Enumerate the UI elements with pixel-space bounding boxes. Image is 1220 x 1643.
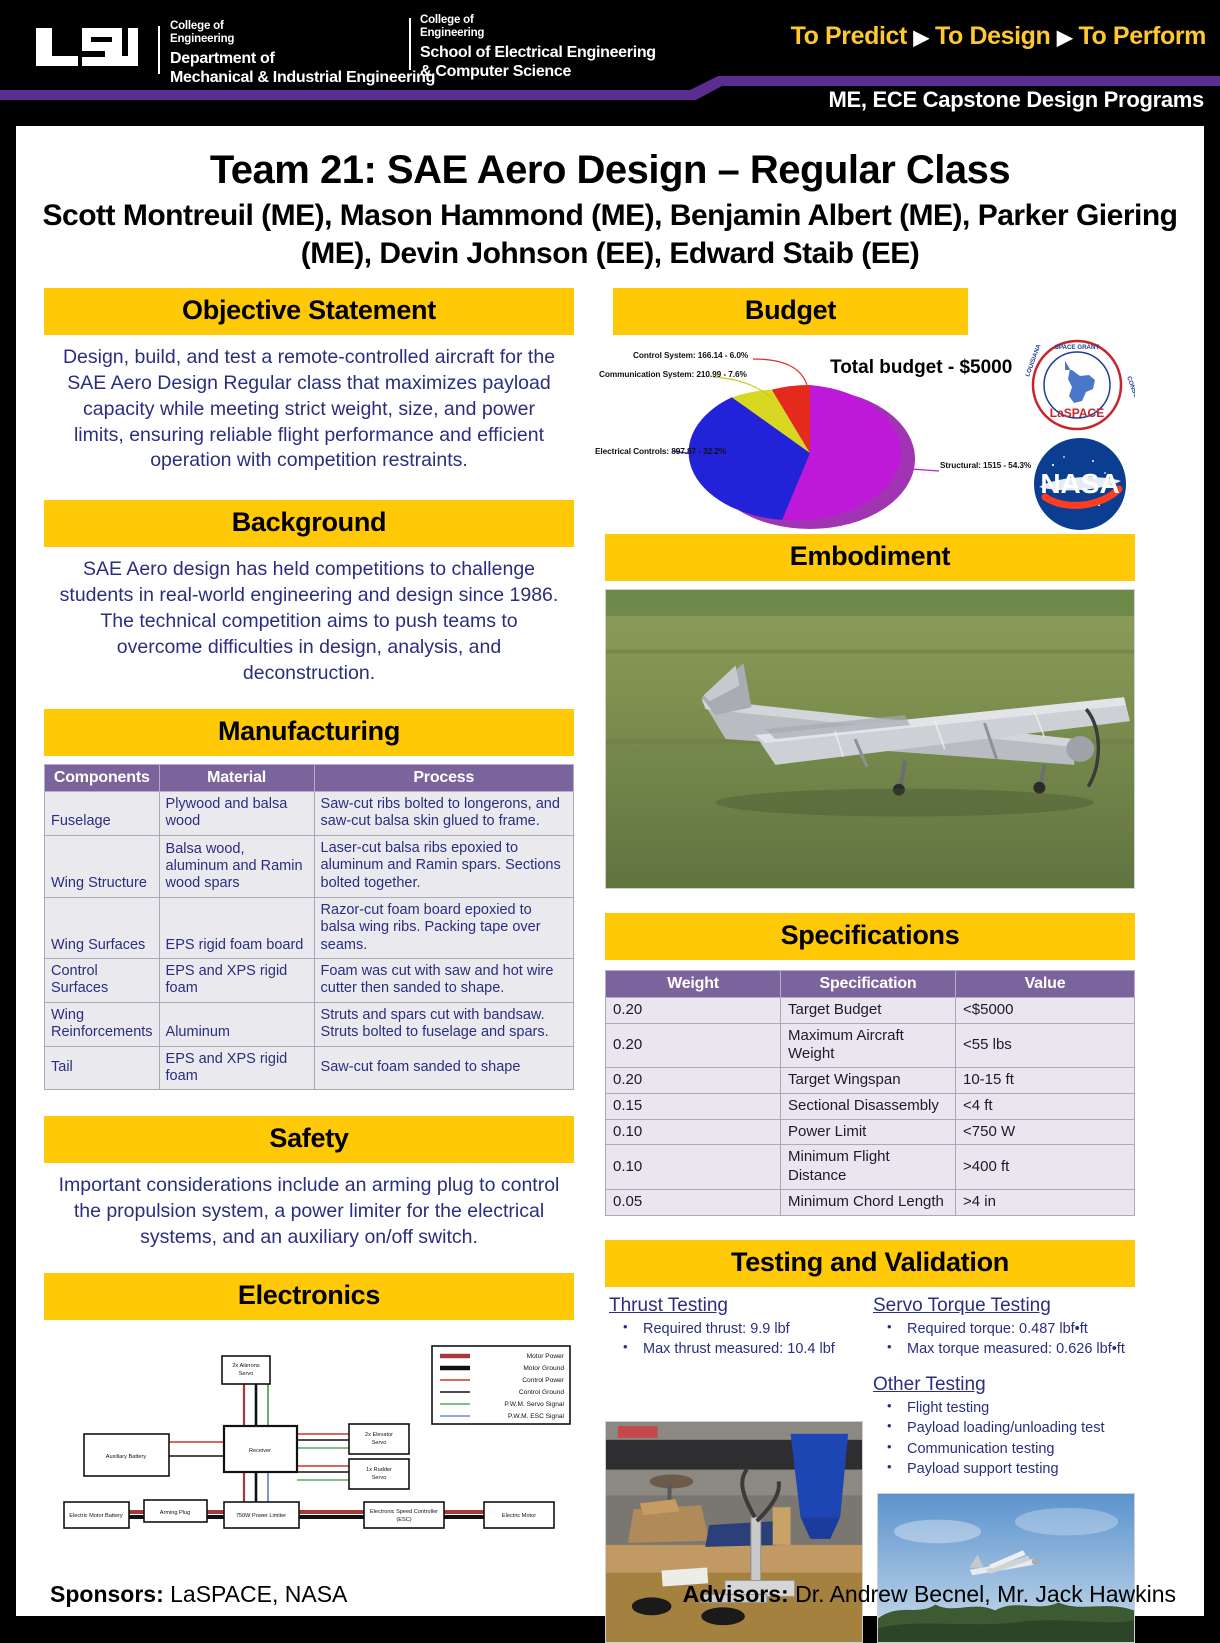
manufacturing-table: Components Material Process Fuselage Ply… xyxy=(44,764,574,1090)
spec-cell: Maximum Aircraft Weight xyxy=(781,1023,956,1068)
mf-cell: Plywood and balsa wood xyxy=(159,792,314,836)
pie-label-structural: Structural: 1515 - 54.3% xyxy=(940,460,1031,470)
tagline-perform: To Perform xyxy=(1079,22,1207,50)
mf-cell: Control Surfaces xyxy=(45,958,160,1002)
spec-cell: 0.15 xyxy=(606,1093,781,1119)
nasa-logo: NASA xyxy=(1031,435,1129,533)
arrow-right-icon: ▶ xyxy=(914,27,929,49)
dept1-line1: Department of xyxy=(170,49,435,68)
sponsors-label: Sponsors: xyxy=(50,1581,164,1607)
testing-heading: Testing and Validation xyxy=(605,1240,1135,1287)
mf-cell: Struts and spars cut with bandsaw. Strut… xyxy=(314,1002,573,1046)
mf-cell: EPS and XPS rigid foam xyxy=(159,1046,314,1090)
lsu-wordmark-logo xyxy=(34,24,144,70)
mf-cell: EPS and XPS rigid foam xyxy=(159,958,314,1002)
spec-cell: >4 in xyxy=(956,1189,1135,1215)
elec-block-label-ailerons-2: Servo xyxy=(239,1371,254,1377)
mf-cell: Saw-cut foam sanded to shape xyxy=(314,1046,573,1090)
advisors-label: Advisors: xyxy=(683,1581,789,1607)
table-row: 0.15 Sectional Disassembly <4 ft xyxy=(606,1093,1135,1119)
budget-heading: Budget xyxy=(613,288,968,335)
spec-cell: <$5000 xyxy=(956,997,1135,1023)
aircraft-in-flight-photo xyxy=(877,1493,1135,1643)
svg-text:NASA: NASA xyxy=(1040,468,1119,499)
legend-label-control-power: Control Power xyxy=(522,1377,565,1384)
elec-block-label-rudder-2: Servo xyxy=(372,1475,387,1481)
table-row: 0.20 Maximum Aircraft Weight <55 lbs xyxy=(606,1023,1135,1068)
specifications-table: Weight Specification Value 0.20 Target B… xyxy=(605,970,1135,1216)
electronics-diagram: 2x Ailerons Servo Auxiliary Battery Rece… xyxy=(44,1324,574,1529)
spec-cell: Power Limit xyxy=(781,1119,956,1145)
arrow-right-icon-2: ▶ xyxy=(1057,27,1072,49)
table-row: Fuselage Plywood and balsa wood Saw-cut … xyxy=(45,792,574,836)
table-row: Wing Reinforcements Aluminum Struts and … xyxy=(45,1002,574,1046)
svg-text:CONSORTIUM: CONSORTIUM xyxy=(1125,375,1135,417)
table-row: Wing Surfaces EPS rigid foam board Razor… xyxy=(45,897,574,958)
mf-cell: Wing Reinforcements xyxy=(45,1002,160,1046)
list-item: Max torque measured: 0.626 lbf•ft xyxy=(887,1339,1135,1360)
spec-cell: 0.10 xyxy=(606,1119,781,1145)
spec-cell: <750 W xyxy=(956,1119,1135,1145)
safety-text: Important considerations include an armi… xyxy=(44,1163,574,1251)
table-header-row: Weight Specification Value xyxy=(606,970,1135,997)
table-row: Tail EPS and XPS rigid foam Saw-cut foam… xyxy=(45,1046,574,1090)
mf-cell: EPS rigid foam board xyxy=(159,897,314,958)
spec-cell: Target Wingspan xyxy=(781,1068,956,1094)
pie-label-control-system: Control System: 166.14 - 6.0% xyxy=(633,350,748,360)
author-list: Scott Montreuil (ME), Mason Hammond (ME)… xyxy=(16,197,1204,274)
dept1-college-label: College of xyxy=(170,20,435,33)
mf-col-components: Components xyxy=(45,765,160,792)
spec-cell: Sectional Disassembly xyxy=(781,1093,956,1119)
mf-cell: Tail xyxy=(45,1046,160,1090)
mf-cell: Razor-cut foam board epoxied to balsa wi… xyxy=(314,897,573,958)
elec-block-label-motor-batt: Electric Motor Battery xyxy=(69,1513,123,1519)
sponsors-value: LaSPACE, NASA xyxy=(170,1581,347,1607)
mf-col-material: Material xyxy=(159,765,314,792)
electronics-legend: Motor Power Motor Ground Control Power C… xyxy=(432,1346,570,1424)
spec-cell: >400 ft xyxy=(956,1145,1135,1190)
poster-body: Team 21: SAE Aero Design – Regular Class… xyxy=(16,126,1204,1616)
testing-text-columns: Thrust Testing Required thrust: 9.9 lbf … xyxy=(605,1295,1135,1415)
background-text: SAE Aero design has held competitions to… xyxy=(44,547,574,687)
advisors: Advisors: Dr. Andrew Becnel, Mr. Jack Ha… xyxy=(683,1581,1176,1608)
spec-col-value: Value xyxy=(956,970,1135,997)
tagline-predict: To Predict xyxy=(791,22,907,50)
advisors-value: Dr. Andrew Becnel, Mr. Jack Hawkins xyxy=(795,1581,1176,1607)
aircraft-on-grass-photo xyxy=(605,589,1135,889)
thrust-testing-title: Thrust Testing xyxy=(609,1295,859,1317)
mf-cell: Saw-cut ribs bolted to longerons, and sa… xyxy=(314,792,573,836)
list-item: Required thrust: 9.9 lbf xyxy=(623,1319,859,1340)
spec-cell: Minimum Flight Distance xyxy=(781,1145,956,1190)
spec-cell: 0.20 xyxy=(606,1068,781,1094)
svg-text:LaSPACE: LaSPACE xyxy=(1050,406,1104,420)
embodiment-heading: Embodiment xyxy=(605,534,1135,581)
elec-block-label-elevator: 2x Elevator xyxy=(365,1432,393,1438)
mf-cell: Wing Structure xyxy=(45,835,160,897)
laspace-logo: LaSPACE SPACE GRANT LOUISIANA CONSORTIUM xyxy=(1019,337,1135,437)
mf-cell: Balsa wood, aluminum and Ramin wood spar… xyxy=(159,835,314,897)
table-row: 0.10 Power Limit <750 W xyxy=(606,1119,1135,1145)
elec-block-label-arming: Arming Plug xyxy=(160,1510,190,1516)
spec-cell: Target Budget xyxy=(781,997,956,1023)
legend-label-servo-signal: P.W.M. Servo Signal xyxy=(504,1401,564,1408)
servo-torque-list: Required torque: 0.487 lbf•ft Max torque… xyxy=(873,1319,1135,1360)
spec-cell: 0.05 xyxy=(606,1189,781,1215)
mf-cell: Laser-cut balsa ribs epoxied to aluminum… xyxy=(314,835,573,897)
manufacturing-heading: Manufacturing xyxy=(44,709,574,756)
page-header: College of Engineering Department of Mec… xyxy=(0,0,1220,130)
electronics-heading: Electronics xyxy=(44,1273,574,1320)
left-column: Objective Statement Design, build, and t… xyxy=(44,288,574,1529)
mf-cell: Aluminum xyxy=(159,1002,314,1046)
mf-cell: Wing Surfaces xyxy=(45,897,160,958)
table-row: 0.20 Target Wingspan 10-15 ft xyxy=(606,1068,1135,1094)
elec-block-label-limiter: 750W Power Limiter xyxy=(236,1513,286,1519)
elec-block-label-rudder: 1x Rudder xyxy=(366,1467,392,1473)
background-heading: Background xyxy=(44,500,574,547)
pie-label-electrical-controls: Electrical Controls: 897.87 - 32.2% xyxy=(595,446,726,456)
table-header-row: Components Material Process xyxy=(45,765,574,792)
elec-block-label-aux-batt: Auxiliary Battery xyxy=(106,1454,147,1460)
spec-cell: 10-15 ft xyxy=(956,1068,1135,1094)
dept2-college-label: College of xyxy=(420,14,656,27)
elec-block-label-elevator-2: Servo xyxy=(372,1440,387,1446)
thrust-testing-list: Required thrust: 9.9 lbf Max thrust meas… xyxy=(609,1319,859,1360)
spec-cell: 0.10 xyxy=(606,1145,781,1190)
other-testing-title: Other Testing xyxy=(873,1374,1135,1396)
thrust-testing-group: Thrust Testing Required thrust: 9.9 lbf … xyxy=(609,1295,859,1360)
specifications-heading: Specifications xyxy=(605,913,1135,960)
objective-text: Design, build, and test a remote-control… xyxy=(44,335,574,475)
legend-label-control-ground: Control Ground xyxy=(519,1389,564,1396)
tagline: To Predict ▶ To Design ▶ To Perform xyxy=(791,22,1206,51)
table-row: Control Surfaces EPS and XPS rigid foam … xyxy=(45,958,574,1002)
spec-cell: 0.20 xyxy=(606,1023,781,1068)
dept2-line1: School of Electrical Engineering xyxy=(420,43,656,62)
elec-block-label-esc-2: (ESC) xyxy=(396,1517,411,1523)
table-row: 0.05 Minimum Chord Length >4 in xyxy=(606,1189,1135,1215)
header-divider-1 xyxy=(158,26,160,74)
mf-cell: Foam was cut with saw and hot wire cutte… xyxy=(314,958,573,1002)
spec-cell: 0.20 xyxy=(606,997,781,1023)
header-divider-2 xyxy=(409,18,411,70)
list-item: Flight testing xyxy=(887,1398,1135,1419)
list-item: Max thrust measured: 10.4 lbf xyxy=(623,1339,859,1360)
dept1-engineering-label: Engineering xyxy=(170,33,435,46)
spec-cell: <4 ft xyxy=(956,1093,1135,1119)
safety-heading: Safety xyxy=(44,1116,574,1163)
elec-block-label-esc: Electronic Speed Controller xyxy=(370,1509,438,1515)
tagline-design: To Design xyxy=(935,22,1050,50)
legend-label-esc-signal: P.W.M. ESC Signal xyxy=(508,1413,564,1420)
mf-col-process: Process xyxy=(314,765,573,792)
legend-label-motor-power: Motor Power xyxy=(527,1353,565,1360)
elec-block-label-motor: Electric Motor xyxy=(502,1513,536,1519)
spec-col-specification: Specification xyxy=(781,970,956,997)
spec-col-weight: Weight xyxy=(606,970,781,997)
table-row: 0.10 Minimum Flight Distance >400 ft xyxy=(606,1145,1135,1190)
objective-heading: Objective Statement xyxy=(44,288,574,335)
table-row: 0.20 Target Budget <$5000 xyxy=(606,997,1135,1023)
elec-block-label-ailerons: 2x Ailerons xyxy=(232,1363,260,1369)
servo-torque-title: Servo Torque Testing xyxy=(873,1295,1135,1317)
budget-chart-area: Total budget - $5000 xyxy=(605,335,1135,530)
svg-text:SPACE GRANT: SPACE GRANT xyxy=(1055,344,1100,351)
right-column: Budget Total budget - $5000 xyxy=(605,288,1135,1643)
mf-cell: Fuselage xyxy=(45,792,160,836)
page-title: Team 21: SAE Aero Design – Regular Class xyxy=(16,148,1204,193)
dept-electrical-block: College of Engineering School of Electri… xyxy=(420,14,656,81)
sponsors: Sponsors: LaSPACE, NASA xyxy=(50,1581,347,1608)
spec-cell: <55 lbs xyxy=(956,1023,1135,1068)
pie-label-communication-system: Communication System: 210.99 - 7.6% xyxy=(599,369,747,379)
spec-cell: Minimum Chord Length xyxy=(781,1189,956,1215)
capstone-programs-label: ME, ECE Capstone Design Programs xyxy=(829,87,1205,113)
legend-label-motor-ground: Motor Ground xyxy=(523,1365,564,1372)
dept2-engineering-label: Engineering xyxy=(420,27,656,40)
table-row: Wing Structure Balsa wood, aluminum and … xyxy=(45,835,574,897)
poster-footer: Sponsors: LaSPACE, NASA Advisors: Dr. An… xyxy=(16,1570,1204,1616)
list-item: Required torque: 0.487 lbf•ft xyxy=(887,1319,1135,1340)
elec-block-label-receiver: Receiver xyxy=(249,1448,271,1454)
